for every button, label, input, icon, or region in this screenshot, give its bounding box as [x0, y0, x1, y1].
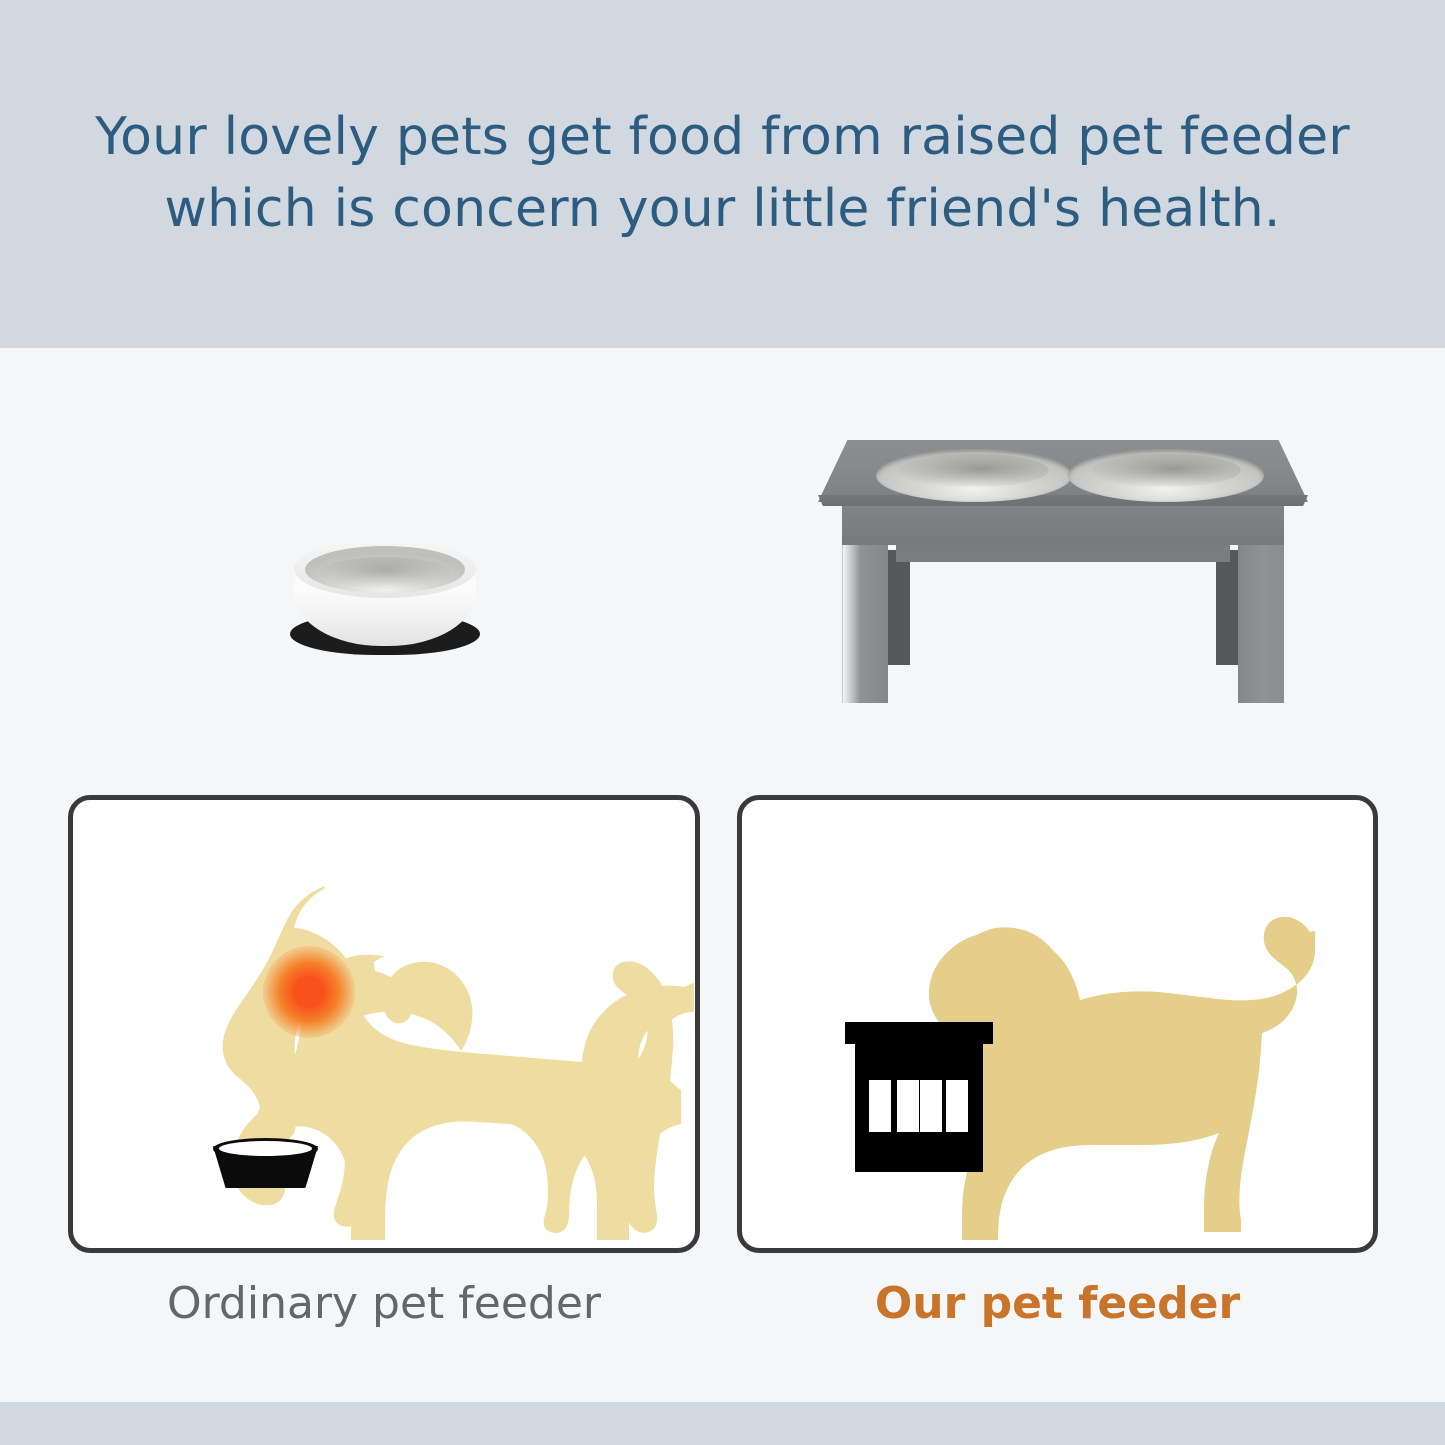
header-line-2: which is concern your little friend's he… [58, 174, 1388, 246]
feeder-icon-slot-1 [869, 1080, 891, 1132]
ordinary-bowl-product-image [285, 538, 485, 663]
footer-band [0, 1402, 1445, 1445]
raised-feeder-icon [845, 1022, 993, 1172]
feeder-table-top-edge [818, 495, 1308, 506]
header-line-1: Your lovely pets get food from raised pe… [58, 102, 1388, 174]
feeder-icon-slot-3 [920, 1080, 942, 1132]
caption-ordinary-pet-feeder: Ordinary pet feeder [68, 1278, 700, 1329]
feeder-icon-top-cap [845, 1022, 993, 1044]
feeder-back-leg-right [1216, 550, 1238, 665]
feeder-bowl-right-well [1091, 454, 1241, 487]
feeder-icon-slot-4 [946, 1080, 968, 1132]
comparison-panel-ordinary [68, 795, 700, 1253]
product-showcase [0, 348, 1445, 778]
header-band: Your lovely pets get food from raised pe… [0, 0, 1445, 348]
floor-bowl-rim-inner [219, 1141, 312, 1156]
bowl-interior-shadow [319, 557, 451, 589]
ordinary-feeder-illustration [73, 800, 695, 1248]
caption-our-pet-feeder: Our pet feeder [737, 1278, 1378, 1329]
our-feeder-illustration [742, 800, 1373, 1248]
feeder-apron [842, 503, 1284, 545]
feeder-back-leg-left [888, 550, 910, 665]
feeder-icon-slot-2 [897, 1080, 919, 1132]
raised-feeder-product-image [818, 440, 1308, 705]
feeder-bowl-left-well [899, 454, 1049, 487]
floor-bowl-icon [213, 1136, 318, 1190]
pain-point-indicator-icon [263, 946, 355, 1038]
comparison-panel-our-feeder [737, 795, 1378, 1253]
page-title: Your lovely pets get food from raised pe… [58, 102, 1388, 246]
